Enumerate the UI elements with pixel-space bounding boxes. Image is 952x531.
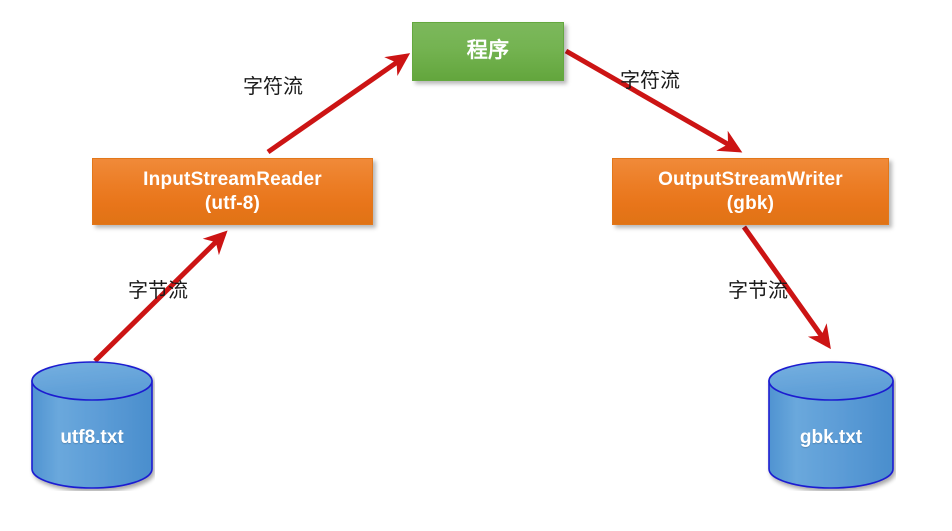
output-stream-writer-class-name: OutputStreamWriter: [658, 168, 843, 192]
node-gbk-file[interactable]: gbk.txt: [766, 359, 896, 491]
node-output-stream-writer[interactable]: OutputStreamWriter (gbk): [612, 158, 889, 225]
input-stream-reader-charset: (utf-8): [143, 192, 322, 216]
edge-label-reader-to-program: 字符流: [243, 70, 303, 99]
edge-label-program-to-writer: 字符流: [620, 64, 680, 93]
node-program[interactable]: 程序: [412, 22, 564, 81]
cylinder-shape: [766, 359, 896, 491]
edge-label-writer-to-gbk: 字节流: [728, 274, 788, 303]
input-stream-reader-label-block: InputStreamReader (utf-8): [143, 168, 322, 216]
diagram-canvas: utf8.txt gbk.txt 程序 InputStreamReader (u…: [0, 0, 952, 531]
node-input-stream-reader[interactable]: InputStreamReader (utf-8): [92, 158, 373, 225]
cylinder-shape: [29, 359, 155, 491]
output-stream-writer-label-block: OutputStreamWriter (gbk): [658, 168, 843, 216]
output-stream-writer-charset: (gbk): [658, 192, 843, 216]
program-label: 程序: [467, 38, 509, 64]
edge-label-utf8-to-reader: 字节流: [128, 274, 188, 303]
node-utf8-file[interactable]: utf8.txt: [29, 359, 155, 491]
input-stream-reader-class-name: InputStreamReader: [143, 168, 322, 192]
